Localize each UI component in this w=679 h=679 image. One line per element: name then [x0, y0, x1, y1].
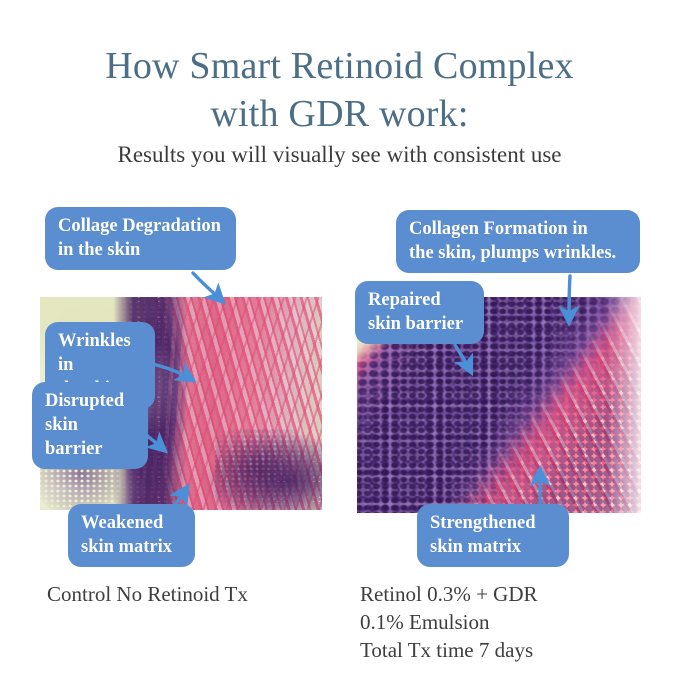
callout-strengthened-matrix[interactable]: Strengthened skin matrix [417, 504, 569, 567]
callout-collagen-degradation[interactable]: Collage Degradation in the skin [45, 207, 236, 270]
callout-disrupted-barrier[interactable]: Disrupted skin barrier [32, 382, 148, 469]
arrow-collagen-degradation [193, 273, 221, 300]
callout-weakened-matrix[interactable]: Weakened skin matrix [68, 504, 195, 567]
caption-control: Control No Retinoid Tx [47, 580, 248, 608]
callout-repaired-barrier[interactable]: Repaired skin barrier [355, 281, 484, 344]
callout-collagen-formation[interactable]: Collagen Formation in the skin, plumps w… [396, 210, 640, 273]
caption-treated: Retinol 0.3% + GDR 0.1% Emulsion Total T… [360, 580, 538, 664]
page-title: How Smart Retinoid Complex with GDR work… [0, 42, 679, 138]
edge-fade [607, 297, 641, 513]
page-subtitle: Results you will visually see with consi… [0, 140, 679, 170]
infographic-root: How Smart Retinoid Complex with GDR work… [0, 0, 679, 679]
